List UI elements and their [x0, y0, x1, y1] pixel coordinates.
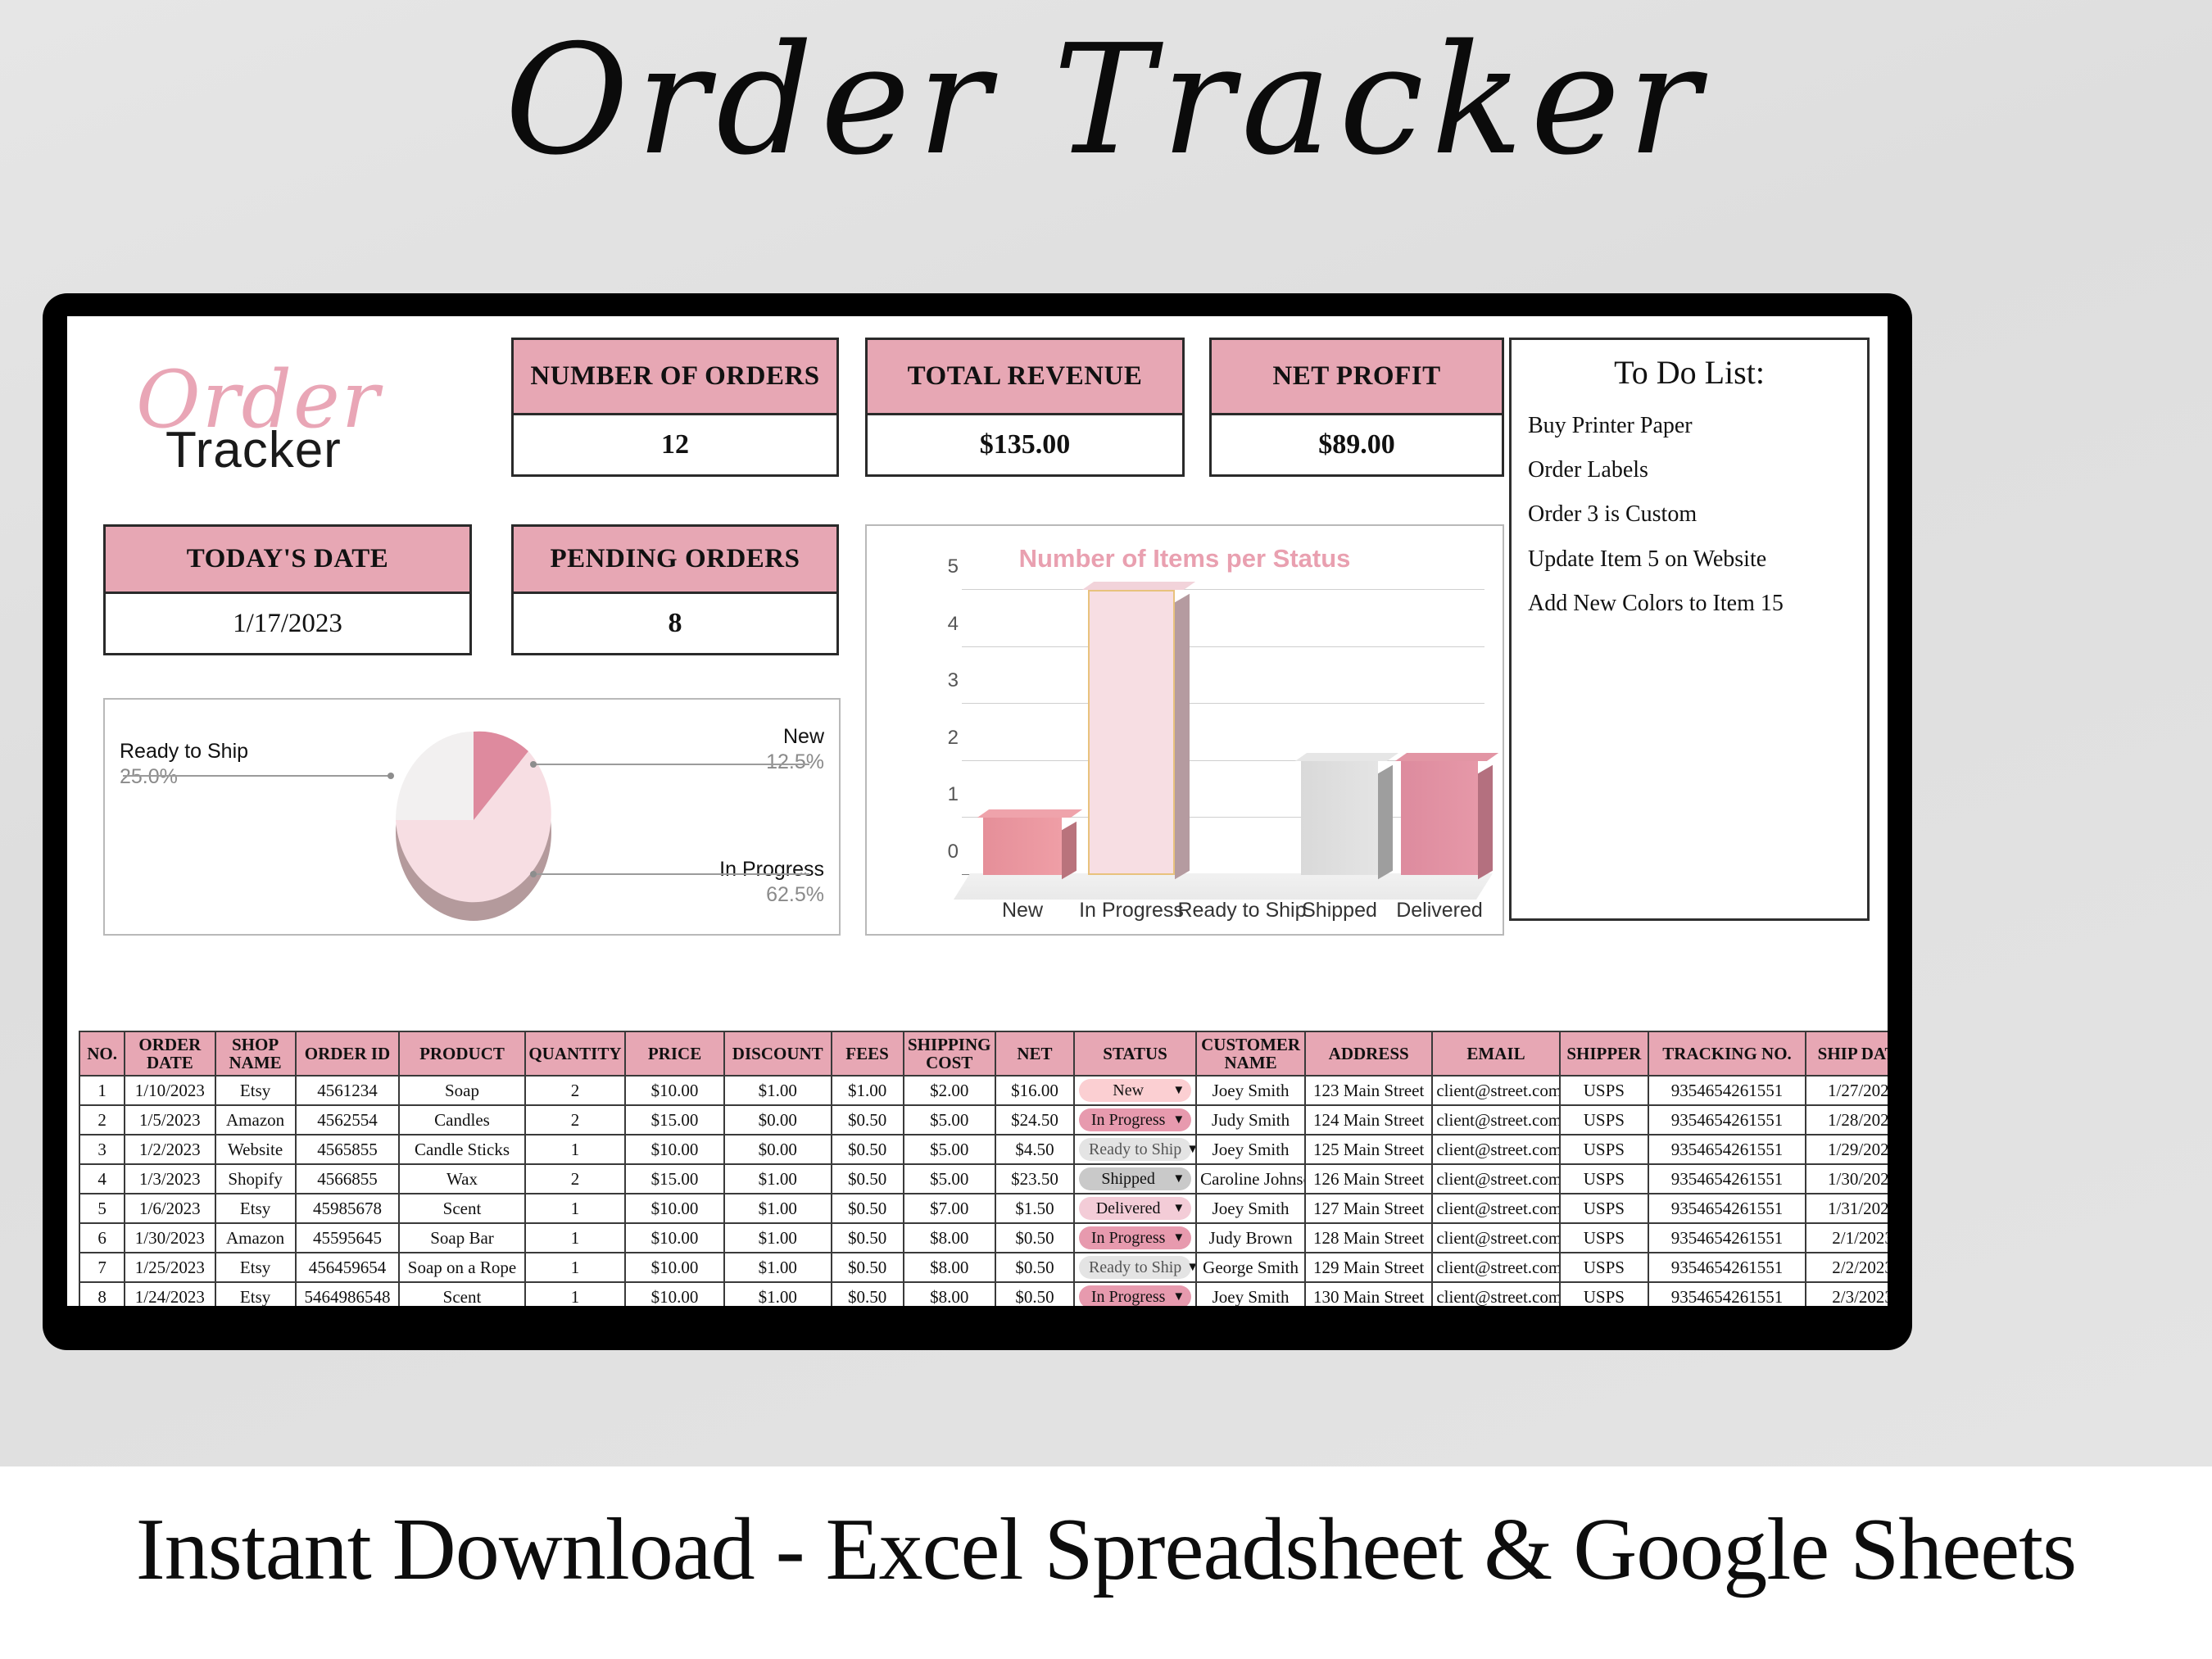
- cell-discount[interactable]: $0.00: [724, 1105, 832, 1135]
- y-axis-tick: 1: [931, 783, 959, 806]
- todo-list-panel: To Do List: Buy Printer Paper Order Labe…: [1509, 338, 1870, 921]
- cell-ship-date[interactable]: 1/27/2023: [1806, 1076, 1888, 1105]
- cell-net[interactable]: $0.50: [995, 1253, 1074, 1282]
- cell-discount[interactable]: $0.00: [724, 1135, 832, 1164]
- table-row[interactable]: 31/2/2023Website4565855Candle Sticks1$10…: [79, 1135, 1888, 1164]
- cell-ship-date[interactable]: 1/29/2023: [1806, 1135, 1888, 1164]
- dashboard: Order Tracker NUMBER OF ORDERS 12 TOTA: [67, 316, 1888, 1306]
- status-badge[interactable]: Delivered▼: [1079, 1197, 1191, 1220]
- bar-new[interactable]: New: [983, 818, 1062, 875]
- cell-email[interactable]: client@street.com: [1432, 1194, 1559, 1223]
- cell-shipping-cost[interactable]: $2.00: [904, 1076, 995, 1105]
- cell-order-id[interactable]: 45985678: [296, 1194, 400, 1223]
- cell-shipper[interactable]: USPS: [1560, 1253, 1648, 1282]
- cell-shop-name[interactable]: Shopify: [215, 1164, 296, 1194]
- todo-item[interactable]: Add New Colors to Item 15: [1528, 591, 1851, 617]
- x-axis-label: New: [975, 899, 1070, 922]
- col-fees[interactable]: FEES: [832, 1031, 904, 1076]
- pie-label-value: 12.5%: [766, 750, 824, 773]
- cell-fees[interactable]: $0.50: [832, 1194, 904, 1223]
- bar-side: [1062, 822, 1077, 879]
- cell-discount[interactable]: $1.00: [724, 1282, 832, 1306]
- kpi-card-net-profit: NET PROFIT $89.00: [1209, 338, 1504, 477]
- dashboard-top-zone: Order Tracker NUMBER OF ORDERS 12 TOTA: [79, 331, 1876, 1036]
- cell-address[interactable]: 123 Main Street: [1305, 1076, 1432, 1105]
- cell-ship-date[interactable]: 1/30/2023: [1806, 1164, 1888, 1194]
- cell-status[interactable]: Shipped▼: [1074, 1164, 1196, 1194]
- cell-no[interactable]: 3: [79, 1135, 125, 1164]
- cell-shipper[interactable]: USPS: [1560, 1282, 1648, 1306]
- cell-address[interactable]: 130 Main Street: [1305, 1282, 1432, 1306]
- bar-chart-body: 5 4 3 2 1 0: [867, 526, 1503, 934]
- y-axis-tick: 4: [931, 613, 959, 636]
- cell-product[interactable]: Soap on a Rope: [399, 1253, 524, 1282]
- pie-label-new: New 12.5%: [660, 724, 824, 776]
- cell-shipping-cost[interactable]: $5.00: [904, 1105, 995, 1135]
- cell-shipping-cost[interactable]: $5.00: [904, 1164, 995, 1194]
- col-quantity[interactable]: QUANTITY: [525, 1031, 626, 1076]
- col-address[interactable]: ADDRESS: [1305, 1031, 1432, 1076]
- status-badge[interactable]: New▼: [1079, 1079, 1191, 1102]
- kpi-card-total-revenue: TOTAL REVENUE $135.00: [865, 338, 1185, 477]
- cell-tracking-no[interactable]: 9354654261551: [1648, 1164, 1806, 1194]
- cell-shipping-cost[interactable]: $8.00: [904, 1282, 995, 1306]
- cell-shop-name[interactable]: Etsy: [215, 1076, 296, 1105]
- cell-no[interactable]: 6: [79, 1223, 125, 1253]
- cell-shop-name[interactable]: Website: [215, 1135, 296, 1164]
- monitor-screen: Order Tracker NUMBER OF ORDERS 12 TOTA: [67, 316, 1888, 1306]
- bar-side: [1378, 765, 1393, 880]
- cell-tracking-no[interactable]: 9354654261551: [1648, 1135, 1806, 1164]
- bar-top: [1395, 753, 1498, 761]
- pie-leader-line: [531, 873, 809, 875]
- bar-chart-floor: [954, 873, 1493, 900]
- cell-status[interactable]: In Progress▼: [1074, 1105, 1196, 1135]
- cell-customer-name[interactable]: Joey Smith: [1196, 1076, 1305, 1105]
- cell-address[interactable]: 125 Main Street: [1305, 1135, 1432, 1164]
- y-axis-tick: 2: [931, 727, 959, 750]
- cell-price[interactable]: $10.00: [625, 1076, 724, 1105]
- col-status[interactable]: STATUS: [1074, 1031, 1196, 1076]
- poster-page: Order Tracker Order Tracker NUMBER OF OR…: [0, 0, 2212, 1659]
- col-order-id[interactable]: ORDER ID: [296, 1031, 400, 1076]
- cell-tracking-no[interactable]: 9354654261551: [1648, 1076, 1806, 1105]
- col-price[interactable]: PRICE: [625, 1031, 724, 1076]
- logo-plain-word: Tracker: [165, 421, 342, 479]
- status-label: Shipped: [1089, 1170, 1167, 1189]
- cell-price[interactable]: $10.00: [625, 1194, 724, 1223]
- bar-top: [977, 809, 1082, 818]
- col-product[interactable]: PRODUCT: [399, 1031, 524, 1076]
- brand-logo: Order Tracker: [103, 338, 488, 510]
- chevron-down-icon[interactable]: ▼: [1172, 1231, 1185, 1245]
- cell-net[interactable]: $4.50: [995, 1135, 1074, 1164]
- cell-order-date[interactable]: 1/6/2023: [125, 1194, 215, 1223]
- cell-shipping-cost[interactable]: $8.00: [904, 1223, 995, 1253]
- y-axis-tick: 3: [931, 669, 959, 692]
- cell-customer-name[interactable]: George Smith: [1196, 1253, 1305, 1282]
- todo-item[interactable]: Buy Printer Paper: [1528, 413, 1851, 439]
- col-net[interactable]: NET: [995, 1031, 1074, 1076]
- kpi-label-todays-date: TODAY'S DATE: [106, 527, 469, 594]
- cell-order-id[interactable]: 4566855: [296, 1164, 400, 1194]
- col-tracking-no[interactable]: TRACKING NO.: [1648, 1031, 1806, 1076]
- kpi-value-pending-orders: 8: [514, 594, 836, 653]
- cell-product[interactable]: Soap: [399, 1076, 524, 1105]
- cell-address[interactable]: 128 Main Street: [1305, 1223, 1432, 1253]
- status-label: New: [1089, 1081, 1167, 1100]
- cell-fees[interactable]: $0.50: [832, 1253, 904, 1282]
- bar-side: [1175, 594, 1190, 879]
- bar-delivered[interactable]: Delivered: [1401, 761, 1478, 875]
- y-axis-tick: 5: [931, 555, 959, 578]
- status-label: Delivered: [1089, 1199, 1167, 1218]
- x-axis-label: Shipped: [1286, 899, 1393, 922]
- pie-label-text: Ready to Ship: [120, 740, 248, 763]
- cell-tracking-no[interactable]: 9354654261551: [1648, 1194, 1806, 1223]
- cell-order-date[interactable]: 1/2/2023: [125, 1135, 215, 1164]
- cell-shipper[interactable]: USPS: [1560, 1194, 1648, 1223]
- cell-ship-date[interactable]: 1/28/2023: [1806, 1105, 1888, 1135]
- cell-shipping-cost[interactable]: $8.00: [904, 1253, 995, 1282]
- cell-order-id[interactable]: 4561234: [296, 1076, 400, 1105]
- table-row[interactable]: 81/24/2023Etsy5464986548Scent1$10.00$1.0…: [79, 1282, 1888, 1306]
- kpi-label-total-revenue: TOTAL REVENUE: [868, 340, 1182, 415]
- cell-shop-name[interactable]: Amazon: [215, 1223, 296, 1253]
- cell-status[interactable]: Ready to Ship▼: [1074, 1135, 1196, 1164]
- todo-item[interactable]: Order 3 is Custom: [1528, 501, 1851, 528]
- bar-chart-plot-area: 5 4 3 2 1 0: [931, 590, 1484, 875]
- x-axis-label: In Progress: [1070, 899, 1193, 922]
- cell-shop-name[interactable]: Amazon: [215, 1105, 296, 1135]
- orders-table-container[interactable]: NO. ORDER DATE SHOP NAME ORDER ID PRODUC…: [79, 1031, 1888, 1306]
- cell-net[interactable]: $23.50: [995, 1164, 1074, 1194]
- cell-email[interactable]: client@street.com: [1432, 1164, 1559, 1194]
- cell-email[interactable]: client@street.com: [1432, 1076, 1559, 1105]
- table-row[interactable]: 41/3/2023Shopify4566855Wax2$15.00$1.00$0…: [79, 1164, 1888, 1194]
- kpi-value-total-revenue: $135.00: [868, 415, 1182, 474]
- cell-ship-date[interactable]: 2/3/2023: [1806, 1282, 1888, 1306]
- cell-no[interactable]: 2: [79, 1105, 125, 1135]
- chevron-down-icon[interactable]: ▼: [1172, 1172, 1185, 1186]
- cell-email[interactable]: client@street.com: [1432, 1282, 1559, 1306]
- cell-ship-date[interactable]: 1/31/2023: [1806, 1194, 1888, 1223]
- cell-order-id[interactable]: 4565855: [296, 1135, 400, 1164]
- kpi-value-todays-date: 1/17/2023: [106, 594, 469, 653]
- cell-shipping-cost[interactable]: $5.00: [904, 1135, 995, 1164]
- kpi-card-pending-orders: PENDING ORDERS 8: [511, 524, 839, 655]
- kpi-label-number-of-orders: NUMBER OF ORDERS: [514, 340, 836, 415]
- bar-face: [1301, 761, 1378, 875]
- cell-fees[interactable]: $1.00: [832, 1076, 904, 1105]
- cell-price[interactable]: $10.00: [625, 1253, 724, 1282]
- chevron-down-icon[interactable]: ▼: [1172, 1113, 1185, 1127]
- cell-net[interactable]: $24.50: [995, 1105, 1074, 1135]
- marketing-caption: Instant Download - Excel Spreadsheet & G…: [0, 1499, 2212, 1601]
- cell-discount[interactable]: $1.00: [724, 1076, 832, 1105]
- todo-item[interactable]: Update Item 5 on Website: [1528, 546, 1851, 573]
- table-row[interactable]: 61/30/2023Amazon45595645Soap Bar1$10.00$…: [79, 1223, 1888, 1253]
- chevron-down-icon[interactable]: ▼: [1186, 1261, 1196, 1275]
- cell-quantity[interactable]: 1: [525, 1282, 626, 1306]
- chevron-down-icon[interactable]: ▼: [1172, 1084, 1185, 1098]
- cell-address[interactable]: 126 Main Street: [1305, 1164, 1432, 1194]
- bar-face: [1088, 590, 1175, 875]
- cell-fees[interactable]: $0.50: [832, 1223, 904, 1253]
- status-badge[interactable]: In Progress▼: [1079, 1108, 1191, 1131]
- status-label: In Progress: [1089, 1288, 1167, 1306]
- cell-customer-name[interactable]: Joey Smith: [1196, 1135, 1305, 1164]
- cell-price[interactable]: $15.00: [625, 1105, 724, 1135]
- cell-product[interactable]: Wax: [399, 1164, 524, 1194]
- cell-tracking-no[interactable]: 9354654261551: [1648, 1253, 1806, 1282]
- col-email[interactable]: EMAIL: [1432, 1031, 1559, 1076]
- chevron-down-icon[interactable]: ▼: [1172, 1202, 1185, 1216]
- chevron-down-icon[interactable]: ▼: [1172, 1290, 1185, 1304]
- cell-order-id[interactable]: 45595645: [296, 1223, 400, 1253]
- cell-tracking-no[interactable]: 9354654261551: [1648, 1223, 1806, 1253]
- status-badge[interactable]: Ready to Ship▼: [1079, 1138, 1191, 1161]
- cell-net[interactable]: $0.50: [995, 1282, 1074, 1306]
- cell-shop-name[interactable]: Etsy: [215, 1282, 296, 1306]
- status-label: Ready to Ship: [1089, 1140, 1181, 1159]
- cell-quantity[interactable]: 1: [525, 1223, 626, 1253]
- col-discount[interactable]: DISCOUNT: [724, 1031, 832, 1076]
- status-badge[interactable]: Shipped▼: [1079, 1167, 1191, 1190]
- orders-table: NO. ORDER DATE SHOP NAME ORDER ID PRODUC…: [79, 1031, 1888, 1306]
- monitor-frame: Order Tracker NUMBER OF ORDERS 12 TOTA: [43, 293, 1912, 1350]
- cell-discount[interactable]: $1.00: [724, 1223, 832, 1253]
- cell-quantity[interactable]: 2: [525, 1076, 626, 1105]
- cell-address[interactable]: 127 Main Street: [1305, 1194, 1432, 1223]
- col-customer-name[interactable]: CUSTOMER NAME: [1196, 1031, 1305, 1076]
- cell-order-id[interactable]: 4562554: [296, 1105, 400, 1135]
- cell-quantity[interactable]: 2: [525, 1105, 626, 1135]
- cell-quantity[interactable]: 1: [525, 1253, 626, 1282]
- kpi-label-net-profit: NET PROFIT: [1212, 340, 1502, 415]
- status-label: Ready to Ship: [1089, 1258, 1181, 1277]
- cell-customer-name[interactable]: Joey Smith: [1196, 1282, 1305, 1306]
- bar-top: [1082, 582, 1195, 590]
- cell-product[interactable]: Scent: [399, 1282, 524, 1306]
- pie-label-value: 62.5%: [766, 883, 824, 906]
- cell-product[interactable]: Candles: [399, 1105, 524, 1135]
- bar-face: [1401, 761, 1478, 875]
- cell-status[interactable]: Delivered▼: [1074, 1194, 1196, 1223]
- cell-status[interactable]: In Progress▼: [1074, 1223, 1196, 1253]
- cell-no[interactable]: 5: [79, 1194, 125, 1223]
- cell-status[interactable]: New▼: [1074, 1076, 1196, 1105]
- cell-net[interactable]: $0.50: [995, 1223, 1074, 1253]
- kpi-card-number-of-orders: NUMBER OF ORDERS 12: [511, 338, 839, 477]
- orders-table-body: 11/10/2023Etsy4561234Soap2$10.00$1.00$1.…: [79, 1076, 1888, 1306]
- gridline: [962, 646, 1484, 647]
- cell-price[interactable]: $10.00: [625, 1282, 724, 1306]
- cell-price[interactable]: $10.00: [625, 1135, 724, 1164]
- cell-order-date[interactable]: 1/5/2023: [125, 1105, 215, 1135]
- pie-label-text: In Progress: [719, 858, 824, 881]
- bar-shipped[interactable]: Shipped: [1301, 761, 1378, 875]
- cell-discount[interactable]: $1.00: [724, 1253, 832, 1282]
- cell-email[interactable]: client@street.com: [1432, 1135, 1559, 1164]
- cell-net[interactable]: $16.00: [995, 1076, 1074, 1105]
- cell-order-id[interactable]: 5464986548: [296, 1282, 400, 1306]
- cell-customer-name[interactable]: Joey Smith: [1196, 1194, 1305, 1223]
- status-badge[interactable]: Ready to Ship▼: [1079, 1256, 1191, 1279]
- cell-fees[interactable]: $0.50: [832, 1135, 904, 1164]
- table-header-row: NO. ORDER DATE SHOP NAME ORDER ID PRODUC…: [79, 1031, 1888, 1076]
- cell-order-date[interactable]: 1/25/2023: [125, 1253, 215, 1282]
- bar-top: [1295, 753, 1398, 761]
- table-row[interactable]: 71/25/2023Etsy456459654Soap on a Rope1$1…: [79, 1253, 1888, 1282]
- hero-title: Order Tracker: [0, 25, 2212, 176]
- cell-fees[interactable]: $0.50: [832, 1164, 904, 1194]
- todo-list-title: To Do List:: [1528, 353, 1851, 392]
- cell-shipper[interactable]: USPS: [1560, 1135, 1648, 1164]
- cell-order-date[interactable]: 1/24/2023: [125, 1282, 215, 1306]
- cell-customer-name[interactable]: Caroline Johnson: [1196, 1164, 1305, 1194]
- cell-order-date[interactable]: 1/3/2023: [125, 1164, 215, 1194]
- pie-leader-line: [531, 764, 809, 765]
- cell-shipper[interactable]: USPS: [1560, 1223, 1648, 1253]
- kpi-value-number-of-orders: 12: [514, 415, 836, 474]
- gridline: [962, 703, 1484, 704]
- pie-label-ready-to-ship: Ready to Ship 25.0%: [120, 739, 333, 791]
- cell-fees[interactable]: $0.50: [832, 1105, 904, 1135]
- cell-quantity[interactable]: 1: [525, 1135, 626, 1164]
- cell-fees[interactable]: $0.50: [832, 1282, 904, 1306]
- status-badge[interactable]: In Progress▼: [1079, 1285, 1191, 1306]
- kpi-label-pending-orders: PENDING ORDERS: [514, 527, 836, 594]
- cell-shipping-cost[interactable]: $7.00: [904, 1194, 995, 1223]
- table-row[interactable]: 21/5/2023Amazon4562554Candles2$15.00$0.0…: [79, 1105, 1888, 1135]
- cell-discount[interactable]: $1.00: [724, 1164, 832, 1194]
- x-axis-label: Delivered: [1386, 899, 1493, 922]
- bar-chart-panel[interactable]: Number of Items per Status 5 4 3: [865, 524, 1504, 936]
- cell-order-date[interactable]: 1/30/2023: [125, 1223, 215, 1253]
- cell-customer-name[interactable]: Judy Brown: [1196, 1223, 1305, 1253]
- col-no[interactable]: NO.: [79, 1031, 125, 1076]
- cell-shipper[interactable]: USPS: [1560, 1076, 1648, 1105]
- cell-shipper[interactable]: USPS: [1560, 1105, 1648, 1135]
- todo-item[interactable]: Order Labels: [1528, 457, 1851, 483]
- cell-order-id[interactable]: 456459654: [296, 1253, 400, 1282]
- pie-leader-line: [123, 775, 393, 777]
- kpi-card-todays-date: TODAY'S DATE 1/17/2023: [103, 524, 472, 655]
- col-shipper[interactable]: SHIPPER: [1560, 1031, 1648, 1076]
- cell-no[interactable]: 8: [79, 1282, 125, 1306]
- pie-label-in-progress: In Progress 62.5%: [636, 857, 824, 909]
- pie-label-value: 25.0%: [120, 765, 178, 788]
- cell-tracking-no[interactable]: 9354654261551: [1648, 1105, 1806, 1135]
- cell-ship-date[interactable]: 2/1/2023: [1806, 1223, 1888, 1253]
- bar-side: [1478, 765, 1493, 880]
- cell-email[interactable]: client@street.com: [1432, 1105, 1559, 1135]
- col-order-date[interactable]: ORDER DATE: [125, 1031, 215, 1076]
- kpi-value-net-profit: $89.00: [1212, 415, 1502, 474]
- cell-address[interactable]: 124 Main Street: [1305, 1105, 1432, 1135]
- col-shop-name[interactable]: SHOP NAME: [215, 1031, 296, 1076]
- pie-chart-panel[interactable]: Ready to Ship 25.0% New 12.5%: [103, 698, 841, 936]
- cell-customer-name[interactable]: Judy Smith: [1196, 1105, 1305, 1135]
- cell-status[interactable]: In Progress▼: [1074, 1282, 1196, 1306]
- cell-no[interactable]: 1: [79, 1076, 125, 1105]
- cell-no[interactable]: 4: [79, 1164, 125, 1194]
- table-row[interactable]: 51/6/2023Etsy45985678Scent1$10.00$1.00$0…: [79, 1194, 1888, 1223]
- pie-label-text: New: [783, 725, 824, 748]
- cell-address[interactable]: 129 Main Street: [1305, 1253, 1432, 1282]
- col-shipping-cost[interactable]: SHIPPING COST: [904, 1031, 995, 1076]
- pie-chart-svg: [375, 718, 572, 922]
- y-axis-tick: 0: [931, 841, 959, 863]
- cell-shop-name[interactable]: Etsy: [215, 1253, 296, 1282]
- cell-tracking-no[interactable]: 9354654261551: [1648, 1282, 1806, 1306]
- bar-in-progress[interactable]: In Progress: [1088, 590, 1175, 875]
- cell-discount[interactable]: $1.00: [724, 1194, 832, 1223]
- cell-price[interactable]: $10.00: [625, 1223, 724, 1253]
- cell-product[interactable]: Scent: [399, 1194, 524, 1223]
- cell-email[interactable]: client@street.com: [1432, 1223, 1559, 1253]
- cell-status[interactable]: Ready to Ship▼: [1074, 1253, 1196, 1282]
- table-row[interactable]: 11/10/2023Etsy4561234Soap2$10.00$1.00$1.…: [79, 1076, 1888, 1105]
- cell-net[interactable]: $1.50: [995, 1194, 1074, 1223]
- status-label: In Progress: [1089, 1111, 1167, 1130]
- cell-no[interactable]: 7: [79, 1253, 125, 1282]
- status-label: In Progress: [1089, 1229, 1167, 1248]
- bar-face: [983, 818, 1062, 875]
- cell-order-date[interactable]: 1/10/2023: [125, 1076, 215, 1105]
- cell-shipper[interactable]: USPS: [1560, 1164, 1648, 1194]
- cell-email[interactable]: client@street.com: [1432, 1253, 1559, 1282]
- col-ship-date[interactable]: SHIP DATE: [1806, 1031, 1888, 1076]
- gridline: [962, 589, 1484, 590]
- cell-price[interactable]: $15.00: [625, 1164, 724, 1194]
- status-badge[interactable]: In Progress▼: [1079, 1226, 1191, 1249]
- chevron-down-icon[interactable]: ▼: [1186, 1143, 1196, 1157]
- cell-quantity[interactable]: 1: [525, 1194, 626, 1223]
- cell-quantity[interactable]: 2: [525, 1164, 626, 1194]
- cell-product[interactable]: Soap Bar: [399, 1223, 524, 1253]
- cell-product[interactable]: Candle Sticks: [399, 1135, 524, 1164]
- cell-ship-date[interactable]: 2/2/2023: [1806, 1253, 1888, 1282]
- cell-shop-name[interactable]: Etsy: [215, 1194, 296, 1223]
